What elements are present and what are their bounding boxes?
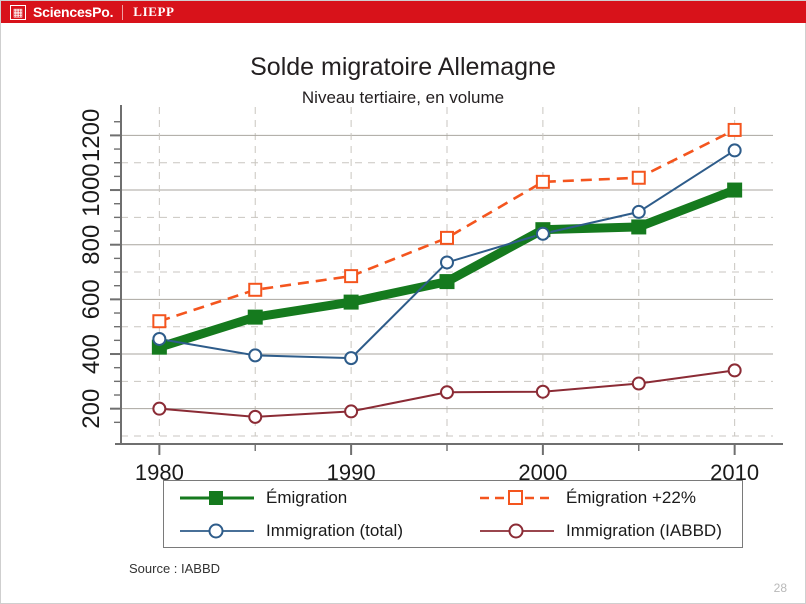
data-point	[345, 405, 357, 417]
legend-label-emigration-plus22: Émigration +22%	[566, 488, 696, 508]
slide-body: Solde migratoire Allemagne Niveau tertia…	[1, 23, 805, 603]
legend-item-emigration[interactable]: Émigration	[164, 481, 464, 514]
legend-key-emigration-plus22	[478, 487, 556, 509]
source-note: Source : IABBD	[129, 561, 220, 576]
data-point	[633, 206, 645, 218]
data-point	[249, 284, 261, 296]
lab-wordmark: LIEPP	[133, 4, 174, 20]
legend-key-emigration	[178, 487, 256, 509]
data-point	[633, 172, 645, 184]
svg-text:400: 400	[78, 334, 105, 374]
svg-text:1000: 1000	[78, 163, 105, 216]
data-point	[441, 386, 453, 398]
data-point	[344, 295, 359, 310]
svg-text:800: 800	[78, 225, 105, 265]
y-axis-tick-labels: 20040060080010001200	[78, 109, 105, 429]
legend-item-immigration-iabbd[interactable]: Immigration (IABBD)	[464, 514, 742, 547]
data-point	[729, 124, 741, 136]
chart-legend: Émigration Émigration +22% Immigration (…	[163, 480, 743, 548]
logo-glyph: ▦	[13, 7, 23, 18]
data-point	[153, 333, 165, 345]
data-point	[249, 349, 261, 361]
svg-text:1200: 1200	[78, 109, 105, 162]
slide-page: ▦ SciencesPo. LIEPP Solde migratoire All…	[0, 0, 806, 604]
data-point	[153, 315, 165, 327]
chart-plot-area: 20040060080010001200 1980199020002010 ye…	[1, 23, 805, 493]
legend-key-immigration-total	[178, 520, 256, 542]
brand-header-band: ▦ SciencesPo. LIEPP	[1, 1, 806, 23]
legend-item-emigration-plus22[interactable]: Émigration +22%	[464, 481, 742, 514]
data-point	[248, 310, 263, 325]
data-point	[537, 386, 549, 398]
data-point	[153, 403, 165, 415]
data-point	[441, 256, 453, 268]
slide-page-number: 28	[774, 581, 787, 595]
data-point	[345, 352, 357, 364]
data-point	[440, 274, 455, 289]
data-point	[729, 144, 741, 156]
legend-label-immigration-iabbd: Immigration (IABBD)	[566, 521, 722, 541]
data-point	[249, 411, 261, 423]
legend-label-immigration-total: Immigration (total)	[266, 521, 403, 541]
data-point	[537, 176, 549, 188]
data-point	[441, 232, 453, 244]
legend-key-immigration-iabbd	[478, 520, 556, 542]
sciencespo-logo-icon: ▦	[10, 5, 26, 20]
line-chart-svg: 20040060080010001200 1980199020002010 ye…	[1, 23, 805, 493]
svg-text:200: 200	[78, 389, 105, 429]
data-series-layer	[152, 124, 742, 423]
brand-wordmark: SciencesPo.	[33, 4, 113, 20]
legend-item-immigration-total[interactable]: Immigration (total)	[164, 514, 464, 547]
data-point	[631, 219, 646, 234]
data-point	[729, 364, 741, 376]
data-point	[727, 183, 742, 198]
data-point	[633, 378, 645, 390]
data-point	[345, 270, 357, 282]
svg-text:600: 600	[78, 279, 105, 319]
header-divider	[122, 5, 123, 20]
data-point	[537, 228, 549, 240]
legend-label-emigration: Émigration	[266, 488, 347, 508]
